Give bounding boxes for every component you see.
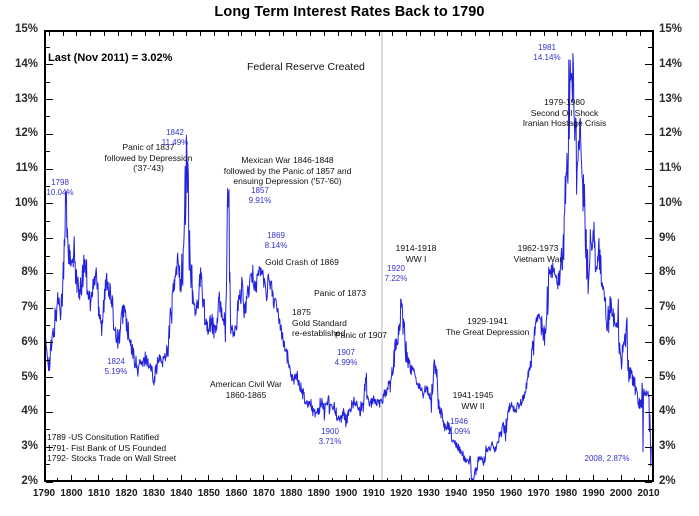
- y-axis-tick: [46, 429, 50, 430]
- y-axis-label: 4%: [0, 406, 38, 418]
- annotation-wwii: 1941-1945 WW II: [443, 390, 503, 411]
- y-axis-label: 11%: [659, 163, 699, 175]
- x-axis-tick: [538, 475, 539, 482]
- x-axis-minor-tick: [140, 478, 141, 482]
- y-axis-label: 11%: [0, 163, 38, 175]
- y-axis-label: 6%: [659, 337, 699, 349]
- annotation-line: 1962-1973: [503, 243, 573, 254]
- y-axis-tick: [46, 221, 50, 222]
- value-callout-1907: 1907 4.99%: [323, 348, 369, 367]
- y-axis-tick: [648, 186, 652, 187]
- annotation-line: followed by Depression: [86, 153, 211, 164]
- annotation-line: WW II: [443, 401, 503, 412]
- x-axis-tick: [291, 475, 292, 482]
- x-axis-minor-tick: [222, 478, 223, 482]
- y-axis-tick: [46, 395, 50, 396]
- y-axis-label: 13%: [659, 94, 699, 106]
- y-axis-tick: [648, 82, 652, 83]
- y-axis-tick: [46, 256, 50, 257]
- x-axis-tick: [318, 475, 319, 482]
- x-axis-top-tick: [475, 32, 476, 36]
- y-axis-label: 12%: [659, 128, 699, 140]
- x-axis-tick: [648, 475, 649, 482]
- x-axis-tick: [263, 475, 264, 482]
- annotation-early-history: 1789 -US Consitution Ratified 1791- Fist…: [47, 432, 227, 464]
- x-axis-top-tick: [173, 32, 174, 36]
- y-axis-tick: [648, 290, 652, 291]
- x-axis-minor-tick: [332, 478, 333, 482]
- y-axis-tick: [46, 273, 53, 274]
- federal-reserve-note: Federal Reserve Created: [247, 61, 365, 73]
- y-axis-tick: [645, 30, 652, 31]
- x-axis-top-tick: [159, 32, 160, 36]
- y-axis-tick: [46, 464, 50, 465]
- x-axis-label: 2000: [610, 488, 632, 499]
- value-callout-2008: 2008, 2.87%: [577, 454, 637, 464]
- x-axis-top-tick: [214, 32, 215, 36]
- annotation-line: 1860-1865: [196, 390, 296, 401]
- x-axis-minor-tick: [634, 478, 635, 482]
- annotation-line: WW I: [386, 254, 446, 265]
- y-axis-tick: [648, 395, 652, 396]
- x-axis-top-tick: [104, 32, 105, 36]
- x-axis-top-tick: [118, 32, 119, 36]
- value-callout-1798: 1798 10.04%: [37, 178, 83, 197]
- x-axis-tick: [44, 475, 45, 482]
- chart-container: Long Term Interest Rates Back to 1790 2%…: [0, 0, 699, 516]
- x-axis-label: 1800: [60, 488, 82, 499]
- y-axis-tick: [648, 47, 652, 48]
- y-axis-label: 8%: [0, 267, 38, 279]
- x-axis-top-tick: [76, 32, 77, 36]
- y-axis-label: 14%: [659, 59, 699, 71]
- x-axis-tick: [208, 475, 209, 482]
- x-axis-label: 1970: [527, 488, 549, 499]
- x-axis-minor-tick: [85, 478, 86, 482]
- y-axis-tick: [46, 203, 53, 204]
- annotation-line: 1941-1945: [443, 390, 503, 401]
- x-axis-label: 1900: [335, 488, 357, 499]
- y-axis-tick: [648, 360, 652, 361]
- y-axis-label: 10%: [659, 198, 699, 210]
- y-axis-label: 2%: [659, 476, 699, 488]
- x-axis-minor-tick: [57, 478, 58, 482]
- value-callout-1981: 1981 14.14%: [524, 43, 570, 62]
- x-axis-label: 1960: [500, 488, 522, 499]
- y-axis-tick: [46, 342, 53, 343]
- x-axis-tick: [483, 475, 484, 482]
- y-axis-tick: [46, 308, 53, 309]
- x-axis-top-tick: [255, 32, 256, 36]
- y-axis-tick: [46, 238, 53, 239]
- chart-title: Long Term Interest Rates Back to 1790: [0, 4, 699, 20]
- x-axis-top-tick: [90, 32, 91, 36]
- x-axis-label: 1810: [88, 488, 110, 499]
- x-axis-top-tick: [351, 32, 352, 36]
- x-axis-minor-tick: [552, 478, 553, 482]
- value-callout-1920: 1920 7.22%: [373, 264, 419, 283]
- x-axis-label: 1850: [198, 488, 220, 499]
- x-axis-label: 1920: [390, 488, 412, 499]
- value-callout-1857: 1857 9.91%: [237, 186, 283, 205]
- x-axis-tick: [373, 475, 374, 482]
- x-axis-top-tick: [420, 32, 421, 36]
- y-axis-tick: [645, 203, 652, 204]
- annotation-line: Iranian Hostage Crisis: [507, 118, 622, 129]
- x-axis-top-tick: [200, 32, 201, 36]
- y-axis-tick: [645, 238, 652, 239]
- x-axis-tick: [346, 475, 347, 482]
- y-axis-tick: [46, 99, 53, 100]
- y-axis-label: 15%: [659, 24, 699, 36]
- x-axis-label: 1880: [280, 488, 302, 499]
- x-axis-label: 1910: [363, 488, 385, 499]
- x-axis-label: 1860: [225, 488, 247, 499]
- y-axis-tick: [648, 256, 652, 257]
- x-axis-tick: [126, 475, 127, 482]
- x-axis-top-tick: [228, 32, 229, 36]
- y-axis-tick: [645, 308, 652, 309]
- annotation-line: 1792- Stocks Trade on Wall Street: [47, 453, 227, 464]
- y-axis-tick: [645, 64, 652, 65]
- x-axis-tick: [456, 475, 457, 482]
- y-axis-tick: [46, 412, 53, 413]
- x-axis-top-tick: [365, 32, 366, 36]
- y-axis-tick: [46, 47, 50, 48]
- last-value-note: Last (Nov 2011) = 3.02%: [48, 52, 172, 64]
- y-axis-tick: [645, 134, 652, 135]
- x-axis-minor-tick: [112, 478, 113, 482]
- y-axis-tick: [46, 290, 50, 291]
- y-axis-tick: [648, 116, 652, 117]
- x-axis-top-tick: [241, 32, 242, 36]
- y-axis-label: 12%: [0, 128, 38, 140]
- annotation-line: The Great Depression: [430, 327, 545, 338]
- x-axis-minor-tick: [167, 478, 168, 482]
- x-axis-label: 1790: [33, 488, 55, 499]
- x-axis-top-tick: [612, 32, 613, 36]
- x-axis-tick: [153, 475, 154, 482]
- y-axis-tick: [645, 412, 652, 413]
- y-axis-label: 3%: [659, 441, 699, 453]
- y-axis-tick: [46, 377, 53, 378]
- y-axis-tick: [46, 151, 50, 152]
- annotation-civil-war: American Civil War 1860-1865: [196, 379, 296, 400]
- x-axis-tick: [511, 475, 512, 482]
- annotation-line: ('37-'43): [86, 163, 211, 174]
- annotation-vietnam-war: 1962-1973 Vietnam War: [503, 243, 573, 264]
- y-axis-tick: [46, 134, 53, 135]
- annotation-gold-crash-1869: Gold Crash of 1869: [252, 257, 352, 268]
- annotation-great-depression: 1929-1941 The Great Depression: [430, 316, 545, 337]
- x-axis-label: 1840: [170, 488, 192, 499]
- x-axis-top-tick: [131, 32, 132, 36]
- x-axis-top-tick: [640, 32, 641, 36]
- x-axis-label: 1930: [418, 488, 440, 499]
- y-axis-tick: [46, 116, 50, 117]
- x-axis-top-tick: [626, 32, 627, 36]
- x-axis-minor-tick: [277, 478, 278, 482]
- x-axis-top-tick: [489, 32, 490, 36]
- value-callout-1900: 1900 3.71%: [307, 427, 353, 446]
- x-axis-top-tick: [434, 32, 435, 36]
- x-axis-top-tick: [324, 32, 325, 36]
- x-axis-minor-tick: [469, 478, 470, 482]
- annotation-line: 1914-1918: [386, 243, 446, 254]
- y-axis-label: 8%: [659, 267, 699, 279]
- y-axis-label: 3%: [0, 441, 38, 453]
- annotation-line: 1791- Fist Bank of US Founded: [47, 443, 227, 454]
- x-axis-label: 1890: [308, 488, 330, 499]
- y-axis-tick: [648, 429, 652, 430]
- x-axis-tick: [181, 475, 182, 482]
- value-callout-1946: 1946 2.09%: [436, 417, 482, 436]
- y-axis-tick: [645, 447, 652, 448]
- y-axis-label: 5%: [659, 372, 699, 384]
- x-axis-minor-tick: [442, 478, 443, 482]
- y-axis-tick: [46, 30, 53, 31]
- x-axis-label: 1990: [582, 488, 604, 499]
- x-axis-top-tick: [283, 32, 284, 36]
- annotation-line: 1875: [292, 307, 382, 318]
- y-axis-tick: [46, 64, 53, 65]
- annotation-line: Mexican War 1846-1848: [205, 155, 370, 166]
- x-axis-tick: [566, 475, 567, 482]
- x-axis-top-tick: [516, 32, 517, 36]
- x-axis-minor-tick: [250, 478, 251, 482]
- y-axis-label: 14%: [0, 59, 38, 71]
- x-axis-top-tick: [49, 32, 50, 36]
- x-axis-top-tick: [145, 32, 146, 36]
- y-axis-tick: [46, 169, 53, 170]
- y-axis-label: 7%: [0, 302, 38, 314]
- x-axis-top-tick: [530, 32, 531, 36]
- x-axis-tick: [236, 475, 237, 482]
- x-axis-top-tick: [310, 32, 311, 36]
- x-axis-minor-tick: [359, 478, 360, 482]
- x-axis-top-tick: [502, 32, 503, 36]
- y-axis-label: 10%: [0, 198, 38, 210]
- x-axis-minor-tick: [305, 478, 306, 482]
- x-axis-top-tick: [379, 32, 380, 36]
- y-axis-tick: [645, 169, 652, 170]
- y-axis-label: 4%: [659, 406, 699, 418]
- x-axis-minor-tick: [414, 478, 415, 482]
- y-axis-label: 15%: [0, 24, 38, 36]
- y-axis-label: 13%: [0, 94, 38, 106]
- annotation-line: Second Oil Shock: [507, 108, 622, 119]
- y-axis-tick: [46, 360, 50, 361]
- x-axis-tick: [71, 475, 72, 482]
- value-callout-1842: 1842 11.49%: [152, 128, 198, 147]
- x-axis-label: 1830: [143, 488, 165, 499]
- value-callout-1869: 1869 8.14%: [253, 231, 299, 250]
- y-axis-label: 6%: [0, 337, 38, 349]
- y-axis-tick: [46, 482, 53, 483]
- x-axis-label: 1980: [555, 488, 577, 499]
- annotation-line: Gold Standard: [292, 318, 382, 329]
- value-callout-1824: 1824 5.19%: [93, 357, 139, 376]
- annotation-panic-1873: Panic of 1873: [297, 288, 383, 299]
- x-axis-top-tick: [63, 32, 64, 36]
- x-axis-label: 1950: [473, 488, 495, 499]
- x-axis-top-tick: [544, 32, 545, 36]
- y-axis-tick: [648, 464, 652, 465]
- annotation-panic-1907: Panic of 1907: [320, 330, 402, 341]
- x-axis-top-tick: [186, 32, 187, 36]
- annotation-wwi: 1914-1918 WW I: [386, 243, 446, 264]
- annotation-line: American Civil War: [196, 379, 296, 390]
- annotation-mexican-war: Mexican War 1846-1848 followed by the Pa…: [205, 155, 370, 187]
- x-axis-top-tick: [599, 32, 600, 36]
- x-axis-minor-tick: [607, 478, 608, 482]
- y-axis-label: 7%: [659, 302, 699, 314]
- y-axis-tick: [46, 325, 50, 326]
- x-axis-top-tick: [338, 32, 339, 36]
- x-axis-tick: [621, 475, 622, 482]
- x-axis-minor-tick: [195, 478, 196, 482]
- x-axis-minor-tick: [387, 478, 388, 482]
- x-axis-label: 1820: [115, 488, 137, 499]
- x-axis-top-tick: [392, 32, 393, 36]
- annotation-line: Vietnam War: [503, 254, 573, 265]
- x-axis-tick: [428, 475, 429, 482]
- x-axis-minor-tick: [497, 478, 498, 482]
- annotation-line: 1789 -US Consitution Ratified: [47, 432, 227, 443]
- y-axis-tick: [648, 325, 652, 326]
- x-axis-tick: [401, 475, 402, 482]
- y-axis-tick: [648, 221, 652, 222]
- x-axis-top-tick: [571, 32, 572, 36]
- annotation-line: followed by the Panic of 1857 and: [205, 166, 370, 177]
- y-axis-label: 5%: [0, 372, 38, 384]
- x-axis-minor-tick: [579, 478, 580, 482]
- y-axis-tick: [46, 82, 50, 83]
- y-axis-tick: [645, 342, 652, 343]
- x-axis-top-tick: [406, 32, 407, 36]
- annotation-line: ensuing Depression ('57-'60): [205, 176, 370, 187]
- x-axis-tick: [593, 475, 594, 482]
- y-axis-label: 9%: [0, 233, 38, 245]
- x-axis-tick: [98, 475, 99, 482]
- x-axis-top-tick: [269, 32, 270, 36]
- y-axis-label: 9%: [659, 233, 699, 245]
- annotation-oil-shock: 1979-1980 Second Oil Shock Iranian Hosta…: [507, 97, 622, 129]
- x-axis-top-tick: [557, 32, 558, 36]
- annotation-line: 1979-1980: [507, 97, 622, 108]
- x-axis-top-tick: [447, 32, 448, 36]
- y-axis-tick: [645, 377, 652, 378]
- y-axis-tick: [645, 273, 652, 274]
- x-axis-label: 1940: [445, 488, 467, 499]
- y-axis-tick: [645, 99, 652, 100]
- x-axis-top-tick: [296, 32, 297, 36]
- y-axis-label: 2%: [0, 476, 38, 488]
- x-axis-label: 2010: [637, 488, 659, 499]
- x-axis-top-tick: [585, 32, 586, 36]
- x-axis-minor-tick: [524, 478, 525, 482]
- y-axis-tick: [648, 151, 652, 152]
- annotation-line: 1929-1941: [430, 316, 545, 327]
- x-axis-top-tick: [461, 32, 462, 36]
- x-axis-label: 1870: [253, 488, 275, 499]
